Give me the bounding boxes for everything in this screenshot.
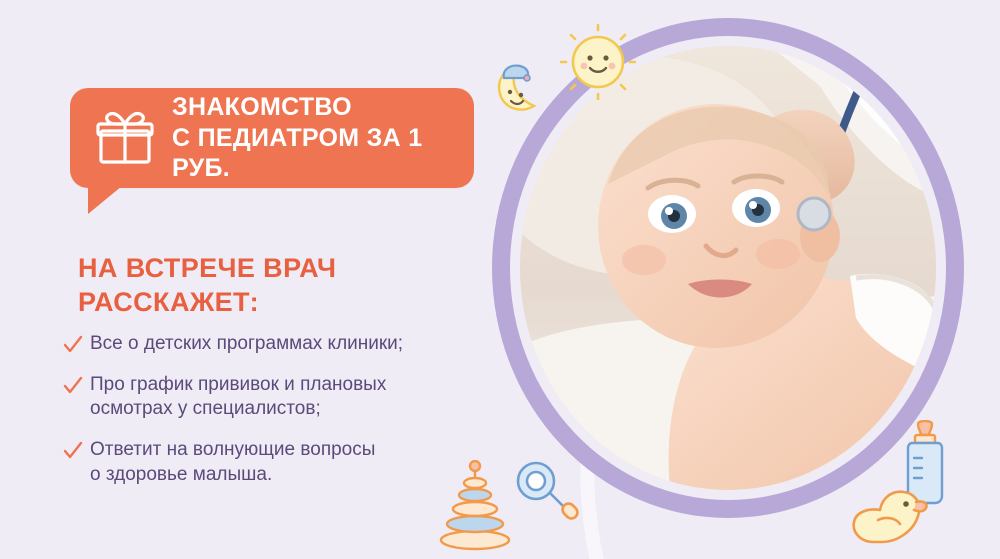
page-title: НА ВСТРЕЧЕ ВРАЧ РАССКАЖЕТ:	[78, 252, 498, 320]
check-icon	[62, 440, 84, 462]
promo-banner: ЗНАКОМСТВО С ПЕДИАТРОМ ЗА 1 РУБ. НА ВСТР…	[0, 0, 1000, 559]
baby-photo-circle	[492, 18, 964, 518]
offer-bubble-text: ЗНАКОМСТВО С ПЕДИАТРОМ ЗА 1 РУБ.	[172, 92, 474, 184]
list-item: Про график прививок и плановых осмотрах …	[62, 373, 502, 422]
list-item-label: Все о детских программах клиники;	[90, 332, 403, 357]
baby-photo	[520, 46, 936, 490]
list-item-label: Про график прививок и плановых осмотрах …	[90, 373, 386, 422]
offer-bubble: ЗНАКОМСТВО С ПЕДИАТРОМ ЗА 1 РУБ.	[70, 88, 474, 188]
list-item-label: Ответит на волнующие вопросы о здоровье …	[90, 438, 375, 487]
check-icon	[62, 375, 84, 397]
check-icon	[62, 334, 84, 356]
list-item: Ответит на волнующие вопросы о здоровье …	[62, 438, 502, 487]
gift-icon	[94, 107, 156, 169]
benefits-list: Все о детских программах клиники; Про гр…	[62, 332, 502, 503]
list-item: Все о детских программах клиники;	[62, 332, 502, 357]
